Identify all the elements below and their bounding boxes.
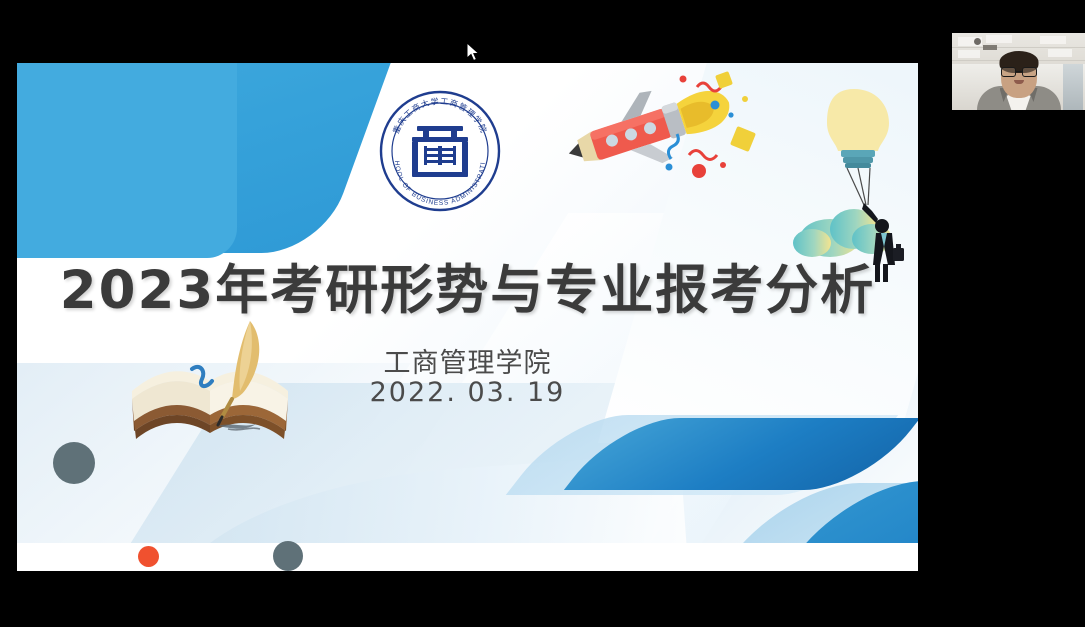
slide-subtitle: 工商管理学院 — [17, 341, 918, 380]
presenter-video-thumbnail[interactable] — [952, 33, 1085, 110]
gray-circle-large — [53, 442, 95, 484]
presenter-glasses — [1001, 67, 1037, 77]
slide-title: 2023年考研形势与专业报考分析 — [17, 248, 918, 324]
red-circle-small — [138, 546, 159, 567]
ceiling-panel — [986, 35, 1012, 43]
corridor-door — [1063, 64, 1083, 110]
pencil-rocket-illustration — [547, 67, 767, 187]
screen-root: SCHOOL OF BUSINESS ADMINISTRATION 重庆工商大学… — [0, 0, 1085, 627]
slide-date: 2022. 03. 19 — [17, 377, 918, 408]
mouse-pointer — [467, 43, 481, 63]
logo-glyph — [412, 126, 468, 177]
ceiling-rail — [952, 47, 1085, 48]
ceiling-panel — [1040, 36, 1066, 44]
ceiling-camera — [974, 38, 981, 45]
projector — [983, 45, 997, 50]
top-left-blue-block — [17, 63, 237, 258]
school-logo: SCHOOL OF BUSINESS ADMINISTRATION 重庆工商大学… — [379, 90, 501, 212]
gray-circle-small — [273, 541, 303, 571]
ceiling-panel — [958, 50, 980, 58]
presentation-slide[interactable]: SCHOOL OF BUSINESS ADMINISTRATION 重庆工商大学… — [17, 63, 918, 571]
ceiling-panel — [1048, 49, 1072, 57]
